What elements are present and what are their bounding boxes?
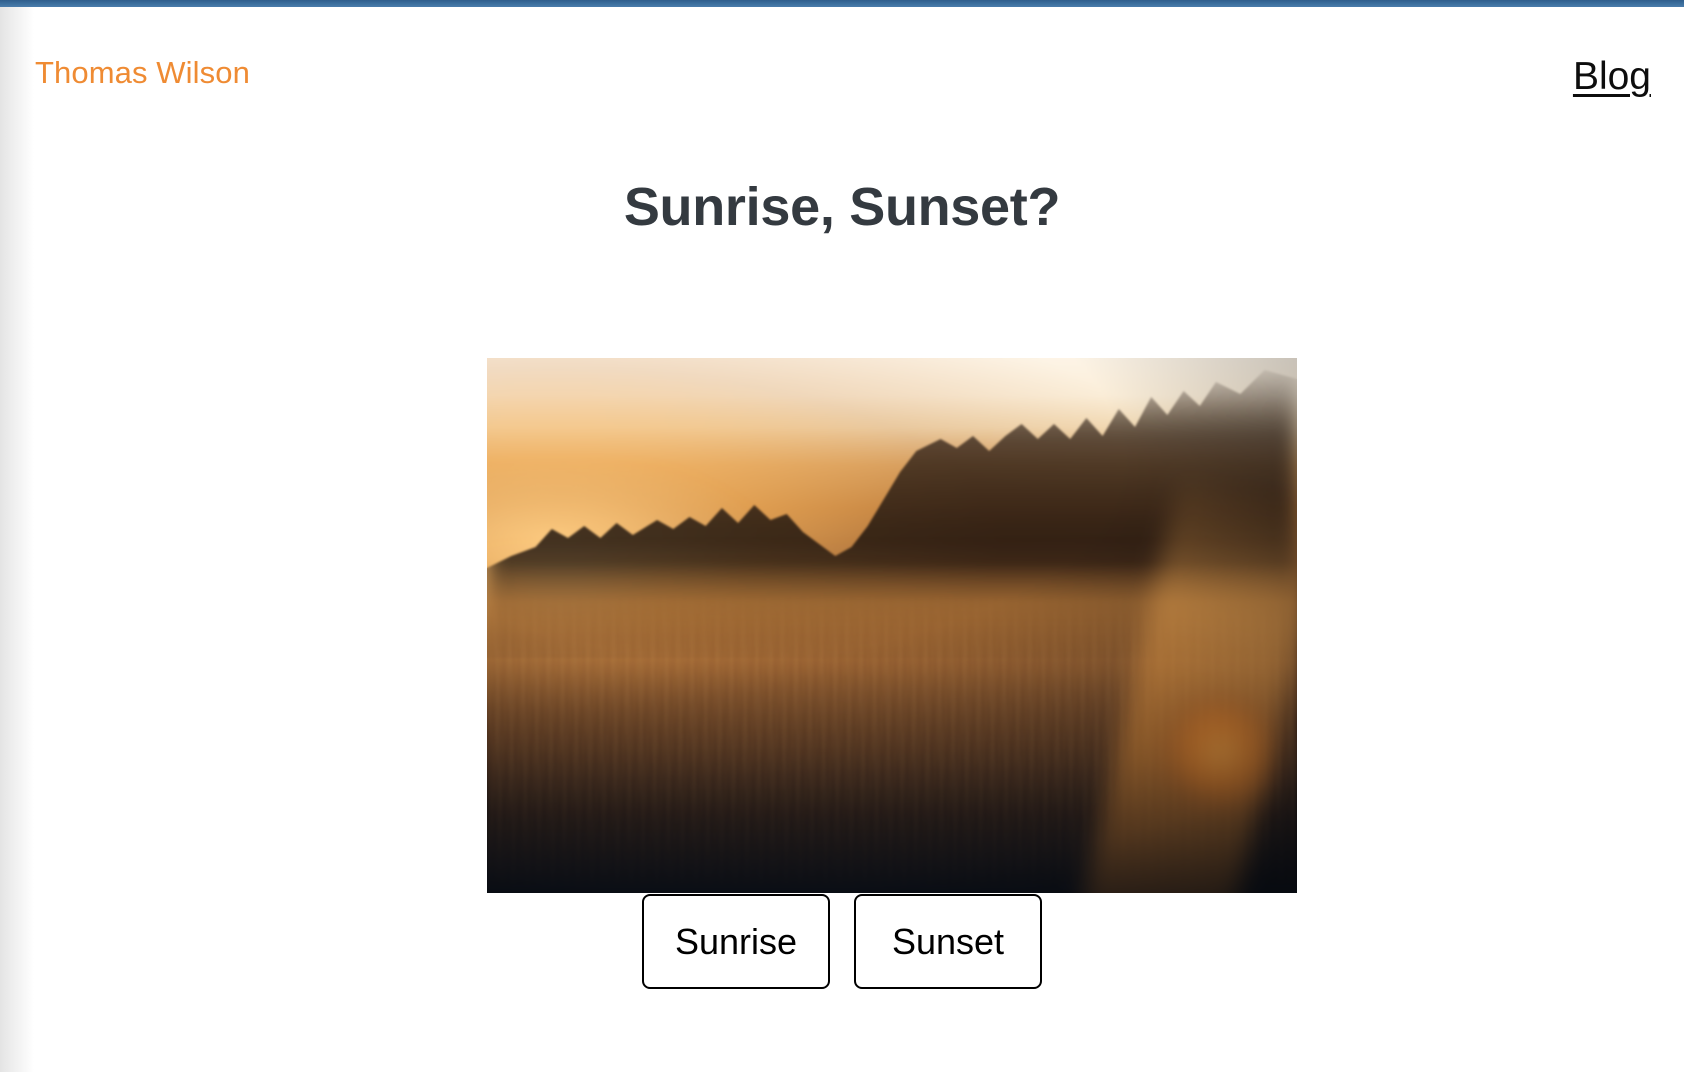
guess-sunset-button[interactable]: Sunset: [854, 894, 1042, 989]
browser-chrome-bar: [0, 0, 1684, 7]
page-title: Sunrise, Sunset?: [0, 123, 1684, 240]
main-nav: Blog: [1573, 53, 1651, 100]
main-content: Sunrise, Sunset? Sunrise Sunset You've n…: [0, 123, 1684, 240]
photo-vignette: [487, 358, 1297, 893]
site-brand-link[interactable]: Thomas Wilson: [35, 54, 250, 92]
site-header: Thomas Wilson Blog: [0, 7, 1684, 123]
page-root: Thomas Wilson Blog Sunrise, Sunset? Sunr…: [0, 7, 1684, 1072]
nav-link-blog[interactable]: Blog: [1573, 53, 1651, 100]
sunset-photo: [487, 358, 1297, 893]
answer-button-group: Sunrise Sunset: [0, 894, 1684, 989]
sunset-photo-figure: [487, 358, 1297, 893]
guess-sunrise-button[interactable]: Sunrise: [642, 894, 830, 989]
